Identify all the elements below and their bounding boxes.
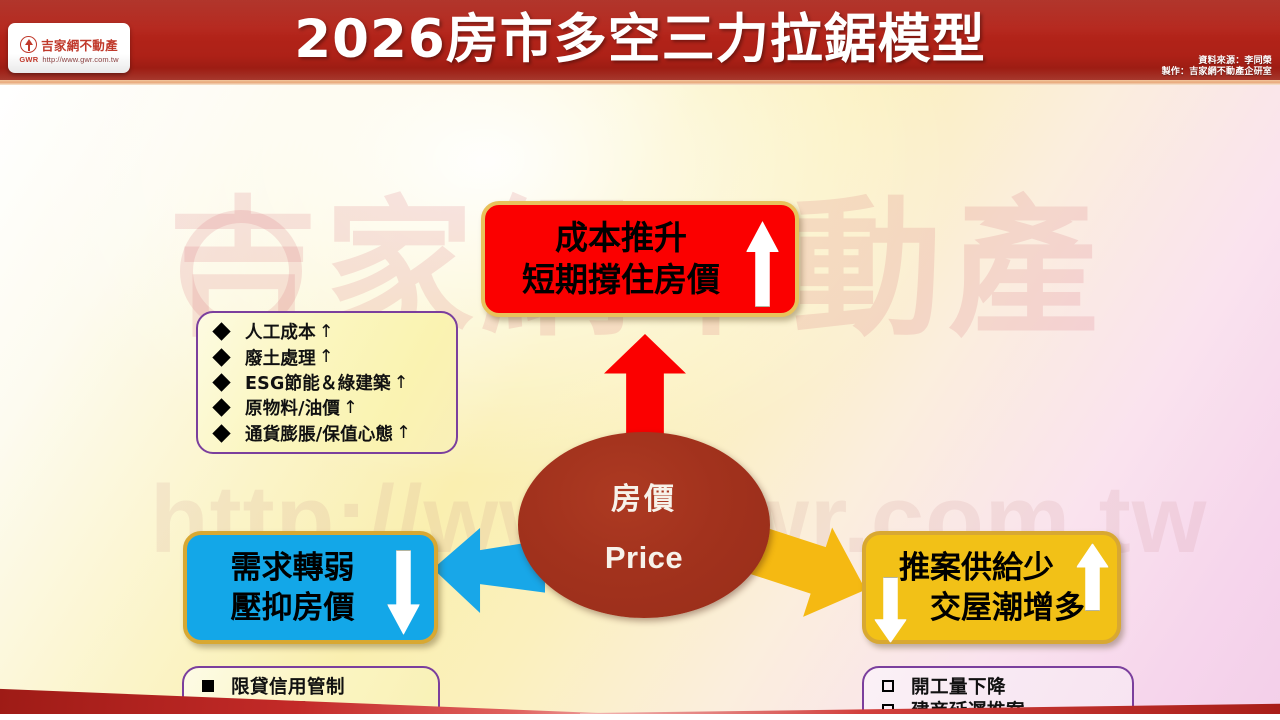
center-price-label-en: Price — [605, 540, 683, 576]
diagram-area: 吉家網不動產 http://www.gwr.com.tw 成本推升 短期撐住房價… — [0, 85, 1280, 720]
list-item-label: 開工量下降 — [911, 673, 1006, 699]
node-cost-push[interactable]: 成本推升 短期撐住房價 — [481, 201, 799, 317]
bullet-icon — [202, 680, 214, 692]
trend-arrow-icon: ↑ — [319, 322, 334, 342]
list-item: 限貸信用管制 — [198, 674, 428, 698]
source-line-2: 製作：吉家網不動產企研室 — [1162, 67, 1272, 78]
page-title: 2026房市多空三力拉鋸模型 — [0, 11, 1280, 69]
trend-arrow-icon: ↑ — [319, 347, 334, 367]
bullet-icon — [882, 680, 894, 692]
panel-cost-factors: 人工成本↑廢土處理↑ESG節能＆綠建築↑原物料/油價↑通貨膨脹/保值心態↑ — [196, 311, 458, 454]
bullet-icon — [212, 424, 230, 442]
list-item: 通貨膨脹/保值心態↑ — [212, 421, 446, 446]
list-item-label: 原物料/油價 — [245, 395, 340, 420]
trend-arrow-icon: ↑ — [394, 373, 409, 393]
center-price-node[interactable]: 房價 Price — [518, 432, 770, 618]
slide-canvas: 吉家網不動產 GWR http://www.gwr.com.tw 2026房市多… — [0, 0, 1280, 720]
list-item-label: 通貨膨脹/保值心態 — [245, 421, 393, 446]
node-cost-line1: 成本推升 — [485, 217, 795, 259]
node-cost-line2: 短期撐住房價 — [485, 259, 795, 301]
list-item: 原物料/油價↑ — [212, 395, 446, 420]
list-item: 人工成本↑ — [212, 319, 446, 344]
footer-base-strip — [0, 714, 1280, 720]
list-item-label: ESG節能＆綠建築 — [245, 370, 391, 395]
list-item-label: 廢土處理 — [245, 345, 316, 370]
source-line-1: 資料來源：李同榮 — [1162, 56, 1272, 67]
bullet-icon — [212, 322, 230, 340]
source-credit: 資料來源：李同榮 製作：吉家網不動產企研室 — [1162, 56, 1272, 78]
node-demand-weak[interactable]: 需求轉弱 壓抑房價 — [183, 531, 438, 644]
node-supply-line1: 推案供給少 — [866, 548, 1117, 588]
trend-arrow-icon: ↑ — [396, 423, 411, 443]
bullet-icon — [212, 373, 230, 391]
list-item: 廢土處理↑ — [212, 344, 446, 369]
bullet-icon — [212, 348, 230, 366]
list-item-label: 限貸信用管制 — [231, 673, 345, 699]
list-item-label: 人工成本 — [245, 319, 316, 344]
center-price-label-cn: 房價 — [611, 474, 677, 518]
list-item: ESG節能＆綠建築↑ — [212, 370, 446, 395]
trend-arrow-icon: ↑ — [343, 398, 358, 418]
slide-header: 吉家網不動產 GWR http://www.gwr.com.tw 2026房市多… — [0, 0, 1280, 80]
list-item: 開工量下降 — [878, 674, 1122, 698]
bullet-icon — [212, 399, 230, 417]
node-supply-short[interactable]: 推案供給少 交屋潮增多 — [862, 531, 1121, 644]
